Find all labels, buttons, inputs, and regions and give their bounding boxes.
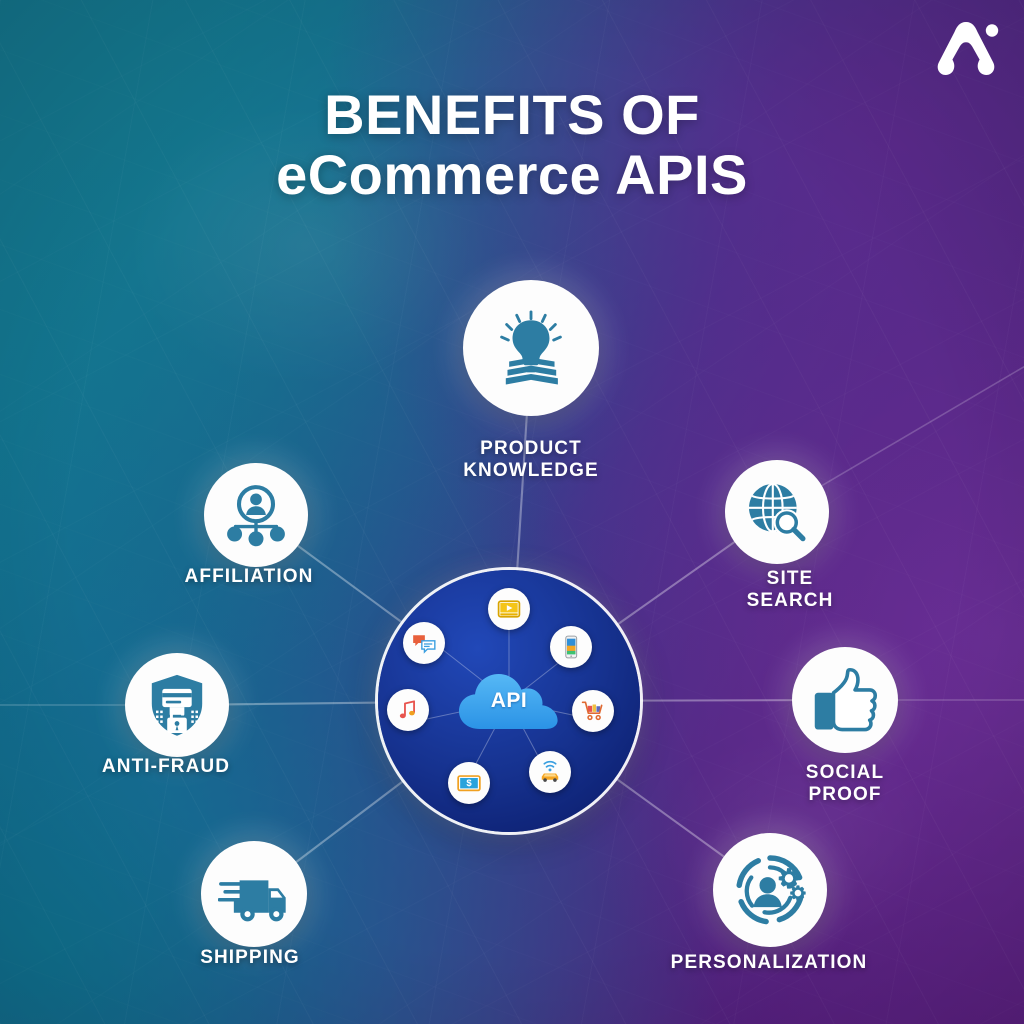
connector-lines: [0, 0, 1024, 1024]
node-label-affiliation: AFFILIATION: [119, 566, 379, 588]
person-network-icon: [204, 463, 308, 567]
video-player-icon: [488, 588, 530, 630]
cloud-icon: API: [456, 665, 562, 737]
node-label-site-search: SITE SEARCH: [660, 568, 920, 612]
car-wifi-icon: [529, 751, 571, 793]
mobile-phone-icon: [550, 626, 592, 668]
shopping-cart-icon: [572, 690, 614, 732]
node-label-anti-fraud: ANTI-FRAUD: [36, 756, 296, 778]
node-label-social-proof: SOCIAL PROOF: [715, 762, 975, 806]
delivery-truck-icon: [201, 841, 307, 947]
infographic-canvas: BENEFITS OF eCommerce APIS: [0, 0, 1024, 1024]
api-label: API: [456, 689, 562, 713]
shield-card-lock-icon: [125, 653, 229, 757]
globe-magnifier-icon: [725, 460, 829, 564]
node-label-shipping: SHIPPING: [120, 947, 380, 969]
chat-bubbles-icon: [403, 622, 445, 664]
money-screen-icon: $: [448, 762, 490, 804]
node-label-product-knowledge: PRODUCT KNOWLEDGE: [381, 438, 681, 482]
thumbs-up-icon: [792, 647, 898, 753]
person-gears-icon: [713, 833, 827, 947]
svg-text:$: $: [466, 778, 472, 789]
music-note-icon: [387, 689, 429, 731]
api-hub: API: [378, 570, 640, 832]
node-label-personalization: PERSONALIZATION: [589, 952, 949, 974]
lightbulb-books-icon: [463, 280, 599, 416]
